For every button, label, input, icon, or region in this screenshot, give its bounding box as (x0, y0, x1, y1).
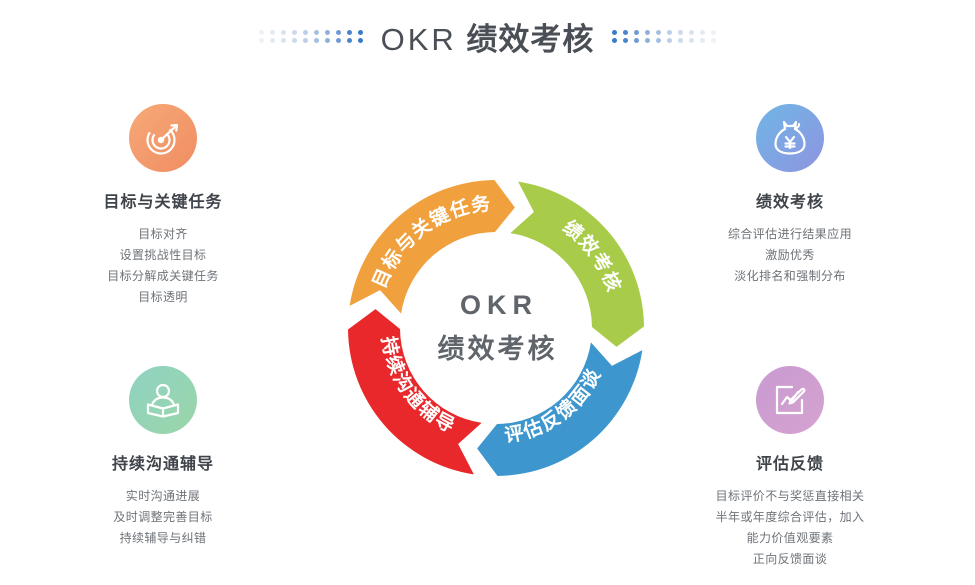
info-block-title-feedback: 评估反馈 (665, 450, 915, 474)
page-header: OKR 绩效考核 (0, 12, 975, 60)
title-dot (303, 30, 308, 35)
info-block-title-coaching: 持续沟通辅导 (38, 450, 288, 474)
title-dot (678, 38, 683, 43)
info-line: 淡化排名和强制分布 (665, 266, 915, 287)
info-line: 持续辅导与纠错 (38, 528, 288, 549)
title-dot (667, 30, 672, 35)
title-dots-right-row-1 (612, 30, 716, 35)
info-block-lines-okr-tasks: 目标对齐设置挑战性目标目标分解成关键任务目标透明 (38, 224, 288, 308)
title-dots-left-row-2 (259, 38, 363, 43)
page-title: OKR 绩效考核 (381, 14, 595, 59)
info-line: 目标透明 (38, 287, 288, 308)
title-dot (656, 38, 661, 43)
info-line: 正向反馈面谈 (665, 549, 915, 570)
chart-pencil-icon (770, 380, 810, 420)
title-dot (259, 38, 264, 43)
title-dot (634, 38, 639, 43)
title-dots-left (259, 30, 363, 43)
title-dot (325, 38, 330, 43)
title-dot (270, 30, 275, 35)
icon-circle-okr-tasks (129, 104, 197, 172)
info-line: 综合评估进行结果应用 (665, 224, 915, 245)
info-block-lines-feedback: 目标评价不与奖惩直接相关半年或年度综合评估，加入能力价值观要素正向反馈面谈 (665, 486, 915, 570)
info-block-coaching: 持续沟通辅导 实时沟通进展及时调整完善目标持续辅导与纠错 (38, 366, 288, 549)
title-dot (667, 38, 672, 43)
wheel-segment-appraisal[interactable] (510, 182, 644, 347)
title-dot (347, 30, 352, 35)
title-dot (347, 38, 352, 43)
info-block-title-okr-tasks: 目标与关键任务 (38, 188, 288, 212)
icon-circle-appraisal (756, 104, 824, 172)
info-line: 目标分解成关键任务 (38, 266, 288, 287)
title-dot (358, 38, 363, 43)
title-dots-left-row-1 (259, 30, 363, 35)
info-line: 能力价值观要素 (665, 528, 915, 549)
info-line: 半年或年度综合评估，加入 (665, 507, 915, 528)
okr-cycle-wheel: 目标与关键任务绩效考核评估反馈面谈持续沟通辅导 OKR 绩效考核 (296, 128, 696, 528)
title-dot (270, 38, 275, 43)
title-dot (336, 30, 341, 35)
title-dot (259, 30, 264, 35)
money-bag-icon (770, 118, 810, 158)
title-dot (700, 30, 705, 35)
title-dot (623, 30, 628, 35)
info-block-lines-coaching: 实时沟通进展及时调整完善目标持续辅导与纠错 (38, 486, 288, 549)
info-line: 设置挑战性目标 (38, 245, 288, 266)
title-dot (623, 38, 628, 43)
icon-circle-coaching (129, 366, 197, 434)
page-title-okr: OKR (381, 22, 457, 57)
info-block-title-appraisal: 绩效考核 (665, 188, 915, 212)
title-dot (612, 30, 617, 35)
info-block-appraisal: 绩效考核 综合评估进行结果应用激励优秀淡化排名和强制分布 (665, 104, 915, 287)
title-dot (612, 38, 617, 43)
info-block-lines-appraisal: 综合评估进行结果应用激励优秀淡化排名和强制分布 (665, 224, 915, 287)
title-dot (281, 38, 286, 43)
title-dot (303, 38, 308, 43)
title-dot (358, 30, 363, 35)
title-dot (678, 30, 683, 35)
icon-circle-feedback (756, 366, 824, 434)
title-dot (292, 38, 297, 43)
title-dot (281, 30, 286, 35)
page-title-cn: 绩效考核 (466, 22, 594, 57)
title-dots-right (612, 30, 716, 43)
info-line: 实时沟通进展 (38, 486, 288, 507)
title-dot (689, 30, 694, 35)
title-dot (325, 30, 330, 35)
title-dot (711, 30, 716, 35)
title-dot (645, 38, 650, 43)
info-line: 目标对齐 (38, 224, 288, 245)
title-dot (336, 38, 341, 43)
wheel-segments (348, 180, 644, 476)
info-block-okr-tasks: 目标与关键任务 目标对齐设置挑战性目标目标分解成关键任务目标透明 (38, 104, 288, 308)
info-block-feedback: 评估反馈 目标评价不与奖惩直接相关半年或年度综合评估，加入能力价值观要素正向反馈… (665, 366, 915, 570)
title-dot (314, 38, 319, 43)
title-dot (700, 38, 705, 43)
info-line: 目标评价不与奖惩直接相关 (665, 486, 915, 507)
info-line: 激励优秀 (665, 245, 915, 266)
info-line: 及时调整完善目标 (38, 507, 288, 528)
okr-cycle-svg: 目标与关键任务绩效考核评估反馈面谈持续沟通辅导 (296, 128, 696, 528)
title-dot (656, 30, 661, 35)
title-dot (689, 38, 694, 43)
person-book-icon (143, 380, 183, 420)
title-dot (634, 30, 639, 35)
title-dot (645, 30, 650, 35)
title-dot (292, 30, 297, 35)
target-arrow-icon (143, 118, 183, 158)
title-dot (314, 30, 319, 35)
title-dots-right-row-2 (612, 38, 716, 43)
title-dot (711, 38, 716, 43)
